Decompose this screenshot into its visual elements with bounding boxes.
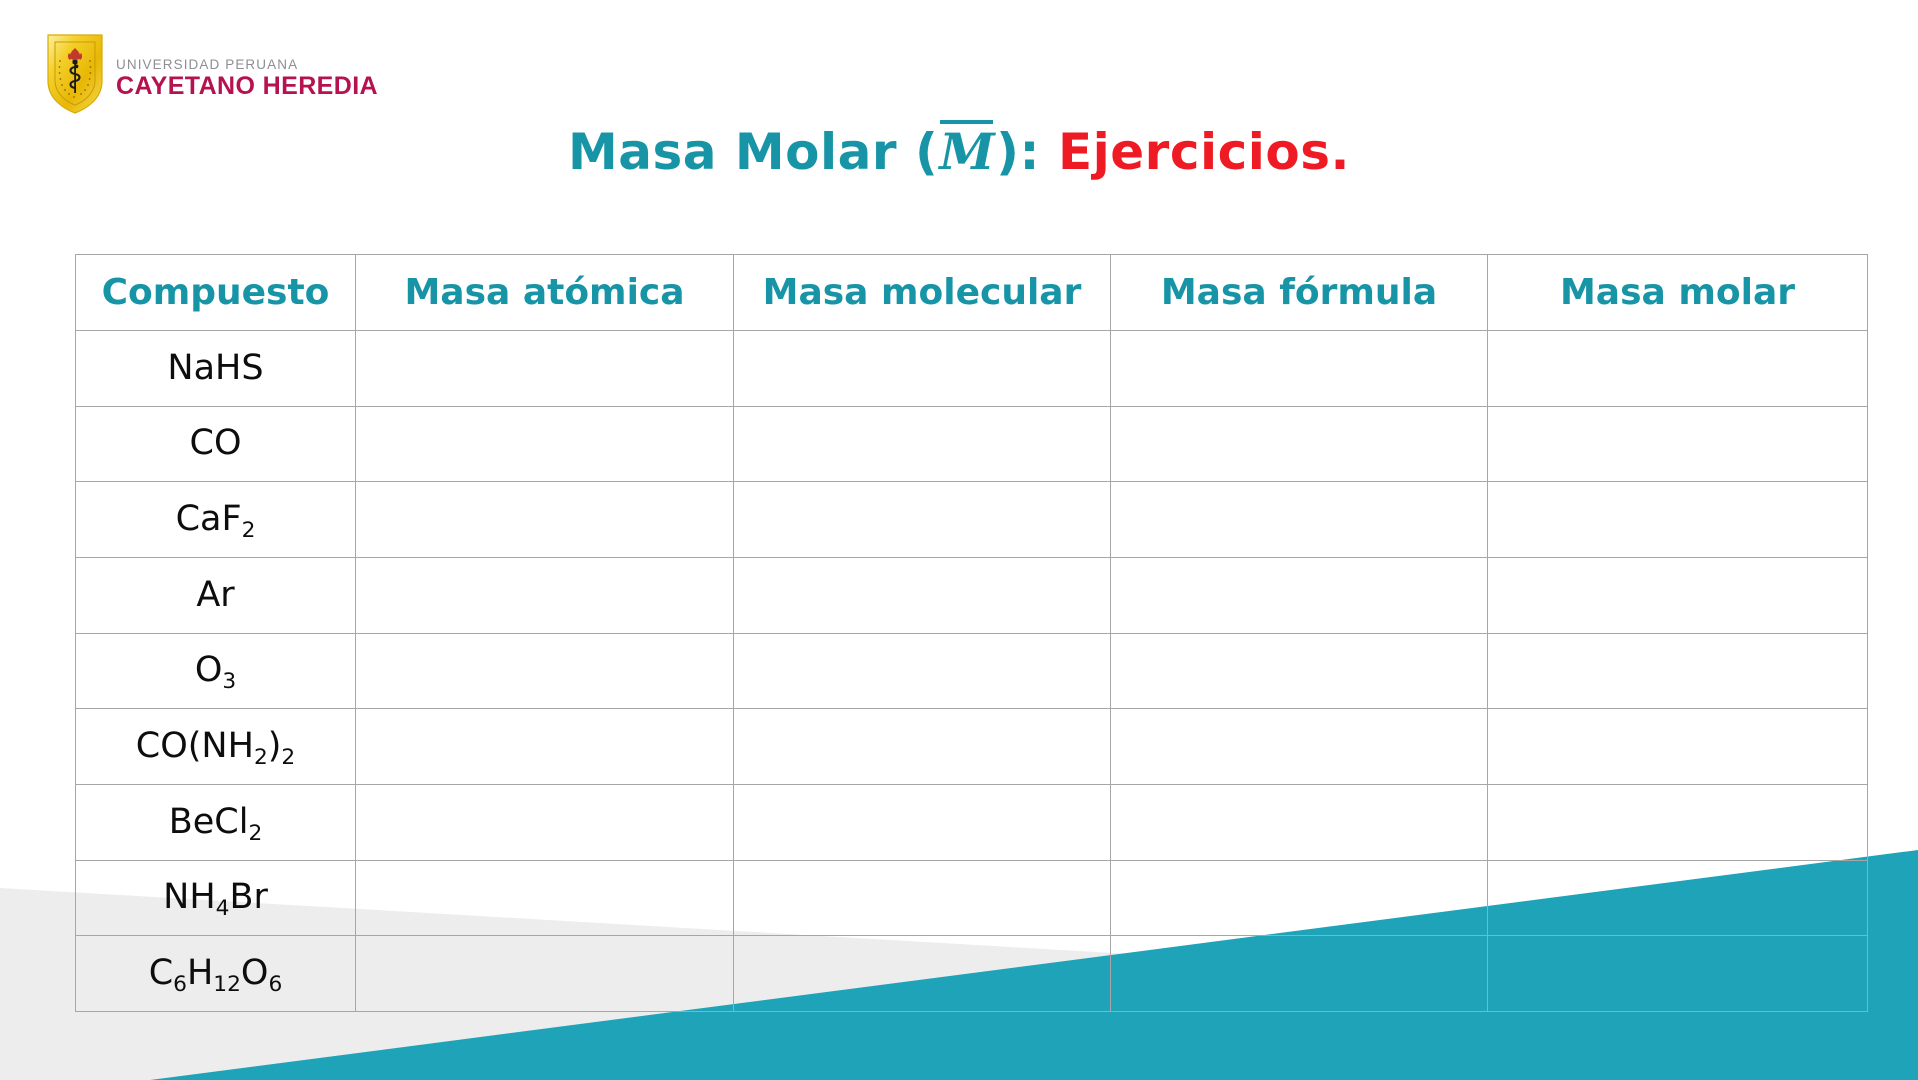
title-red-ejercicios: Ejercicios. [1058, 123, 1350, 181]
table-row: NH4Br [76, 860, 1868, 936]
cell-masa-molar[interactable] [1488, 557, 1868, 633]
cell-compuesto: BeCl2 [76, 784, 356, 860]
cell-masa-molecular[interactable] [734, 784, 1111, 860]
cell-compuesto: NH4Br [76, 860, 356, 936]
logo-line-cayetano-heredia: CAYETANO HEREDIA [116, 73, 378, 101]
cell-masa-atomica[interactable] [356, 936, 734, 1012]
cell-masa-atomica[interactable] [356, 557, 734, 633]
column-header-compuesto: Compuesto [76, 255, 356, 331]
table-header-row: Compuesto Masa atómica Masa molecular Ma… [76, 255, 1868, 331]
cell-masa-atomica[interactable] [356, 406, 734, 482]
table-row: CaF2 [76, 482, 1868, 558]
cell-masa-molecular[interactable] [734, 331, 1111, 407]
table-row: NaHS [76, 331, 1868, 407]
column-header-masa-molar: Masa molar [1488, 255, 1868, 331]
cell-masa-atomica[interactable] [356, 331, 734, 407]
upch-shield-icon [44, 31, 106, 115]
cell-masa-formula[interactable] [1111, 482, 1488, 558]
column-header-masa-formula: Masa fórmula [1111, 255, 1488, 331]
cell-masa-molecular[interactable] [734, 709, 1111, 785]
title-teal-after: ): [996, 123, 1040, 181]
table-row: O3 [76, 633, 1868, 709]
table-body: NaHSCOCaF2ArO3CO(NH2)2BeCl2NH4BrC6H12O6 [76, 331, 1868, 1012]
cell-masa-formula[interactable] [1111, 860, 1488, 936]
cell-compuesto: CO [76, 406, 356, 482]
cell-masa-molecular[interactable] [734, 557, 1111, 633]
cell-masa-molar[interactable] [1488, 860, 1868, 936]
table-row: C6H12O6 [76, 936, 1868, 1012]
cell-compuesto: O3 [76, 633, 356, 709]
cell-masa-molecular[interactable] [734, 633, 1111, 709]
slide-title: Masa Molar (M): Ejercicios. [0, 122, 1918, 181]
cell-masa-molecular[interactable] [734, 860, 1111, 936]
cell-masa-atomica[interactable] [356, 482, 734, 558]
cell-masa-molar[interactable] [1488, 936, 1868, 1012]
cell-masa-molar[interactable] [1488, 784, 1868, 860]
exercise-table-container: Compuesto Masa atómica Masa molecular Ma… [75, 254, 1867, 1012]
cell-masa-formula[interactable] [1111, 406, 1488, 482]
cell-masa-atomica[interactable] [356, 633, 734, 709]
table-row: BeCl2 [76, 784, 1868, 860]
column-header-masa-atomica: Masa atómica [356, 255, 734, 331]
cell-masa-molecular[interactable] [734, 936, 1111, 1012]
cell-compuesto: Ar [76, 557, 356, 633]
cell-compuesto: CO(NH2)2 [76, 709, 356, 785]
cell-masa-molar[interactable] [1488, 709, 1868, 785]
table-head: Compuesto Masa atómica Masa molecular Ma… [76, 255, 1868, 331]
cell-masa-formula[interactable] [1111, 784, 1488, 860]
column-header-masa-molecular: Masa molecular [734, 255, 1111, 331]
cell-masa-molecular[interactable] [734, 482, 1111, 558]
cell-masa-formula[interactable] [1111, 709, 1488, 785]
table-row: CO [76, 406, 1868, 482]
title-molar-mass-symbol: M [938, 122, 996, 181]
table-row: Ar [76, 557, 1868, 633]
cell-masa-molar[interactable] [1488, 331, 1868, 407]
cell-masa-molar[interactable] [1488, 633, 1868, 709]
cell-masa-molar[interactable] [1488, 406, 1868, 482]
university-logo: UNIVERSIDAD PERUANA CAYETANO HEREDIA [44, 30, 378, 116]
table-row: CO(NH2)2 [76, 709, 1868, 785]
logo-wordmark: UNIVERSIDAD PERUANA CAYETANO HEREDIA [116, 45, 378, 100]
cell-masa-molecular[interactable] [734, 406, 1111, 482]
title-teal-before: Masa Molar ( [568, 123, 938, 181]
cell-masa-formula[interactable] [1111, 331, 1488, 407]
cell-masa-molar[interactable] [1488, 482, 1868, 558]
cell-masa-formula[interactable] [1111, 557, 1488, 633]
slide-canvas: UNIVERSIDAD PERUANA CAYETANO HEREDIA Mas… [0, 0, 1918, 1080]
cell-masa-atomica[interactable] [356, 709, 734, 785]
cell-masa-formula[interactable] [1111, 633, 1488, 709]
logo-line-universidad-peruana: UNIVERSIDAD PERUANA [116, 57, 378, 73]
exercise-table: Compuesto Masa atómica Masa molecular Ma… [75, 254, 1868, 1012]
cell-compuesto: CaF2 [76, 482, 356, 558]
cell-compuesto: NaHS [76, 331, 356, 407]
cell-masa-formula[interactable] [1111, 936, 1488, 1012]
cell-masa-atomica[interactable] [356, 784, 734, 860]
cell-masa-atomica[interactable] [356, 860, 734, 936]
cell-compuesto: C6H12O6 [76, 936, 356, 1012]
